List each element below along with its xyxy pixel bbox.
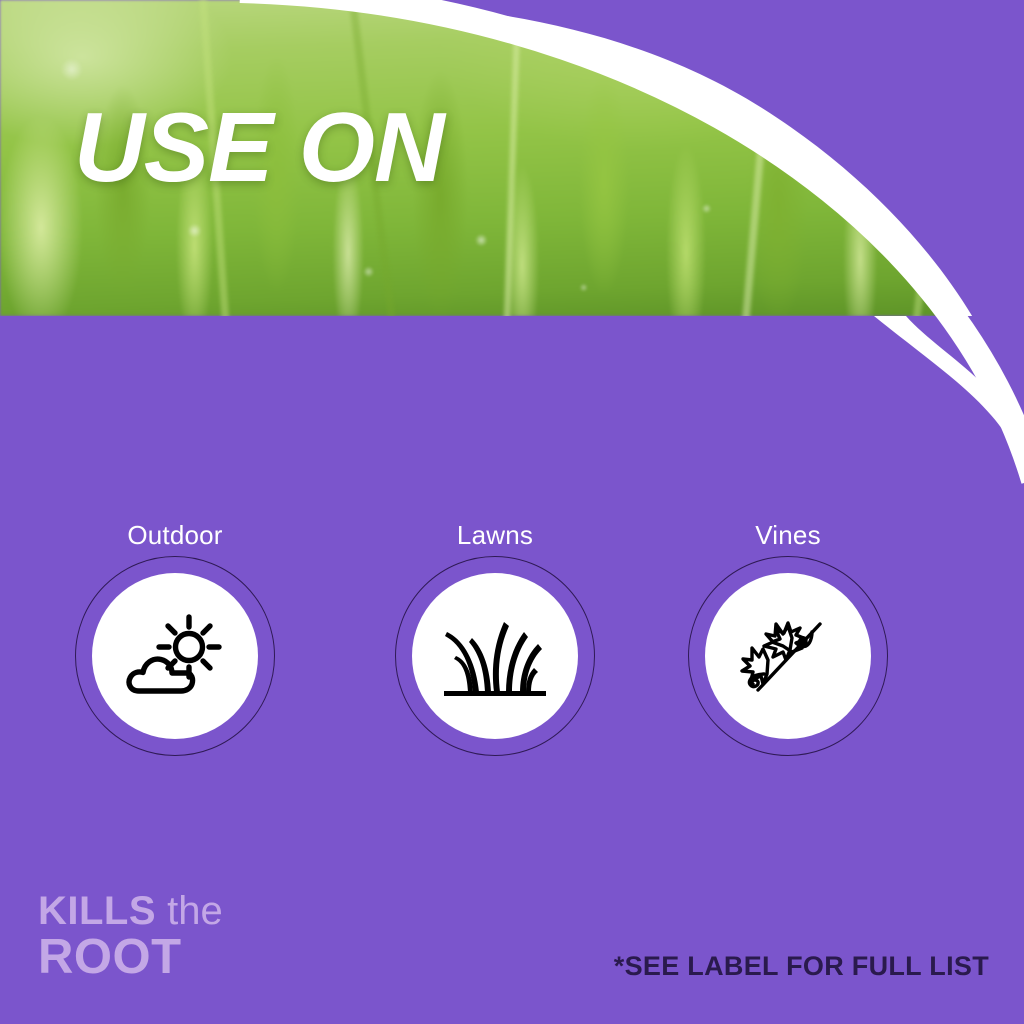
kills-word: KILLS — [38, 889, 156, 933]
icon-disc-lawns — [412, 573, 578, 739]
use-on-item-vines[interactable]: Vines — [668, 520, 908, 756]
icon-ring-lawns — [395, 556, 595, 756]
use-on-item-label: Outdoor — [55, 520, 295, 550]
use-on-item-label: Vines — [668, 520, 908, 550]
the-word: the — [167, 889, 223, 933]
icon-disc-vines — [705, 573, 871, 739]
poster-canvas: USE ON Outdoor — [0, 0, 1024, 1024]
use-on-item-label: Lawns — [375, 520, 615, 550]
grass-blades-icon — [442, 610, 548, 702]
page-title: USE ON — [74, 98, 444, 196]
icon-ring-vines — [688, 556, 888, 756]
use-on-item-lawns[interactable]: Lawns — [375, 520, 615, 756]
root-word: ROOT — [38, 932, 223, 984]
kills-the-line: KILLS the — [38, 890, 223, 932]
use-on-item-outdoor[interactable]: Outdoor — [55, 520, 295, 756]
icon-ring-outdoor — [75, 556, 275, 756]
white-swoosh-lower-tail — [874, 316, 1024, 470]
disclaimer-text: *SEE LABEL FOR FULL LIST — [614, 951, 989, 982]
kills-the-root-lockup: KILLS the ROOT — [38, 890, 223, 984]
sun-cloud-icon — [123, 609, 227, 703]
vine-leaves-icon — [740, 608, 836, 704]
use-on-icon-row: Outdoor — [0, 520, 1024, 760]
icon-disc-outdoor — [92, 573, 258, 739]
